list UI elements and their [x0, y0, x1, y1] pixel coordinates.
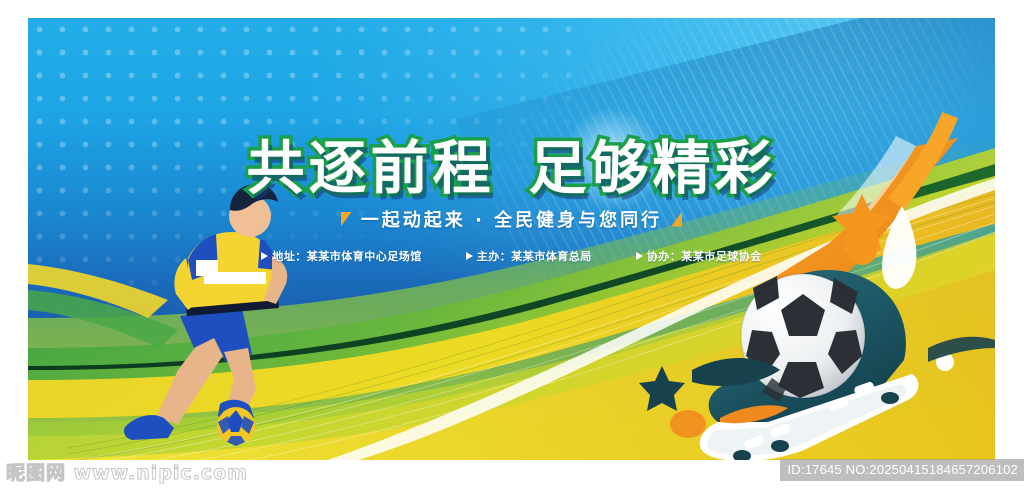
- site-watermark: 昵图网 www.nipic.com: [6, 458, 248, 485]
- teal-star-decoration: [639, 366, 685, 411]
- sports-poster: 共逐前程足够精彩 一起动起来 · 全民健身与您同行 地址：某某市体育中心足场馆主…: [28, 18, 995, 460]
- subtitle-row: 一起动起来 · 全民健身与您同行: [28, 206, 995, 232]
- info-item-organizer-label: 主办：某某市体育总局: [477, 250, 592, 263]
- info-row: 地址：某某市体育中心足场馆主办：某某市体育总局协办：某某市足球协会: [28, 247, 995, 265]
- teal-arc-decoration: [928, 337, 995, 362]
- headline-left: 共逐前程: [246, 134, 494, 202]
- subtitle: 一起动起来 · 全民健身与您同行: [361, 206, 662, 232]
- right-corner-marker-icon: [671, 212, 682, 227]
- info-item-address-label: 地址：某某市体育中心足场馆: [272, 250, 422, 263]
- info-item-coorganizer-label: 协办：某某市足球协会: [647, 250, 762, 263]
- headline-right: 足够精彩: [529, 134, 777, 202]
- page-title: 共逐前程足够精彩: [28, 121, 995, 205]
- play-triangle-icon: [636, 252, 643, 260]
- info-item-coorganizer: 协办：某某市足球协会: [636, 248, 762, 264]
- soccer-kick-illustration: [28, 18, 995, 460]
- image-id-watermark: ID:17645 NO:20250415184657206102: [780, 459, 1024, 481]
- info-item-address: 地址：某某市体育中心足场馆: [261, 248, 422, 264]
- left-corner-marker-icon: [341, 212, 352, 227]
- orange-ellipse-decoration: [670, 410, 706, 438]
- play-triangle-icon: [466, 252, 473, 260]
- play-triangle-icon: [261, 252, 268, 260]
- screenshot-canvas: 共逐前程足够精彩 一起动起来 · 全民健身与您同行 地址：某某市体育中心足场馆主…: [0, 0, 1024, 496]
- info-item-organizer: 主办：某某市体育总局: [466, 248, 592, 264]
